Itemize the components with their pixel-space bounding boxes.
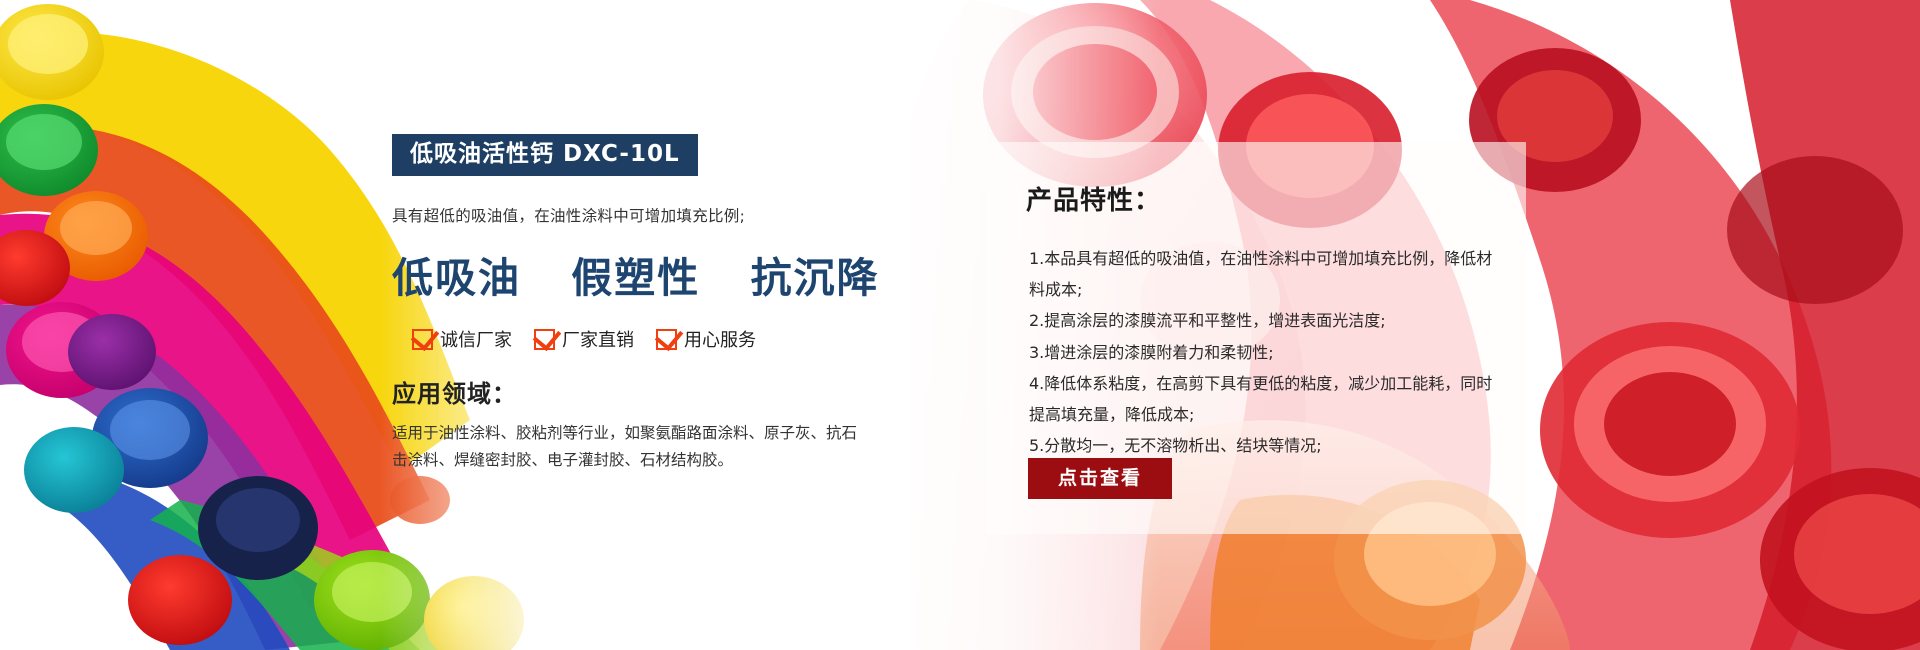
product-title-badge: 低吸油活性钙 DXC-10L	[392, 134, 698, 176]
trust-badge-1-label: 诚信厂家	[440, 326, 512, 352]
trust-badge-1: 诚信厂家	[412, 326, 512, 352]
features-list: 1.本品具有超低的吸油值，在油性涂料中可增加填充比例，降低材料成本; 2.提高涂…	[1029, 243, 1499, 461]
check-icon	[412, 329, 433, 350]
check-icon	[656, 329, 677, 350]
feature-item-3: 3.增进涂层的漆膜附着力和柔韧性;	[1029, 337, 1499, 368]
features-panel-title: 产品特性：	[1026, 180, 1161, 217]
trust-badge-3-label: 用心服务	[684, 326, 756, 352]
view-details-button[interactable]: 点击查看	[1028, 458, 1172, 499]
check-icon	[534, 329, 555, 350]
feature-item-5: 5.分散均一，无不溶物析出、结块等情况;	[1029, 430, 1499, 461]
keyword-2: 假塑性	[571, 254, 700, 302]
application-section-body: 适用于油性涂料、胶粘剂等行业，如聚氨酯路面涂料、原子灰、抗石击涂料、焊缝密封胶、…	[392, 420, 872, 474]
trust-badge-2-label: 厂家直销	[562, 326, 634, 352]
product-banner: 低吸油活性钙 DXC-10L 具有超低的吸油值，在油性涂料中可增加填充比例; 低…	[0, 0, 1920, 650]
feature-item-2: 2.提高涂层的漆膜流平和平整性，增进表面光洁度;	[1029, 305, 1499, 336]
keyword-3: 抗沉降	[751, 254, 880, 302]
trust-badge-3: 用心服务	[656, 326, 756, 352]
trust-badge-row: 诚信厂家 厂家直销 用心服务	[412, 326, 912, 352]
keyword-1: 低吸油	[392, 254, 521, 302]
product-subtitle: 具有超低的吸油值，在油性涂料中可增加填充比例;	[392, 204, 912, 226]
application-section-title: 应用领域：	[392, 374, 912, 409]
feature-item-4: 4.降低体系粘度，在高剪下具有更低的粘度，减少加工能耗，同时提高填充量，降低成本…	[1029, 368, 1499, 430]
trust-badge-2: 厂家直销	[534, 326, 634, 352]
feature-item-1: 1.本品具有超低的吸油值，在油性涂料中可增加填充比例，降低材料成本;	[1029, 243, 1499, 305]
left-content-column: 低吸油活性钙 DXC-10L 具有超低的吸油值，在油性涂料中可增加填充比例; 低…	[392, 134, 912, 474]
keyword-row: 低吸油 假塑性 抗沉降	[392, 244, 912, 304]
